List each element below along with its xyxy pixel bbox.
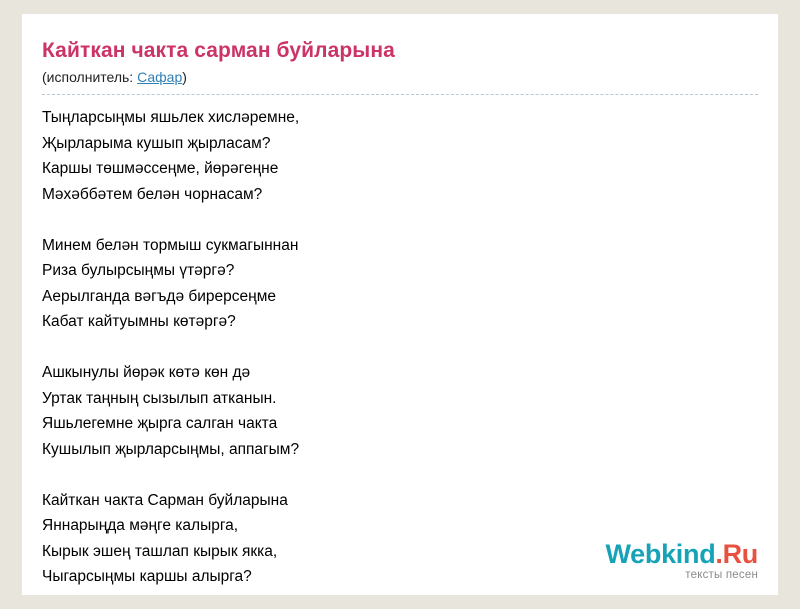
lyrics-text: Тыңларсыңмы яшьлек хисләремне, Җырларыма… <box>42 105 758 590</box>
performer-prefix-label: (исполнитель: <box>42 69 137 85</box>
document-page: Кайткан чакта сарман буйларына (исполнит… <box>22 14 778 595</box>
performer-link[interactable]: Сафар <box>137 69 182 85</box>
logo-tld-text: .Ru <box>715 539 758 569</box>
page-title: Кайткан чакта сарман буйларына <box>42 38 758 64</box>
performer-line: (исполнитель: Сафар) <box>42 68 758 95</box>
logo-subtitle: тексты песен <box>605 570 758 582</box>
logo-main-text: Webkind <box>605 539 715 569</box>
site-logo[interactable]: Webkind.Ru тексты песен <box>605 541 758 582</box>
performer-suffix-label: ) <box>182 69 187 85</box>
song-content: Кайткан чакта сарман буйларына (исполнит… <box>42 38 758 590</box>
